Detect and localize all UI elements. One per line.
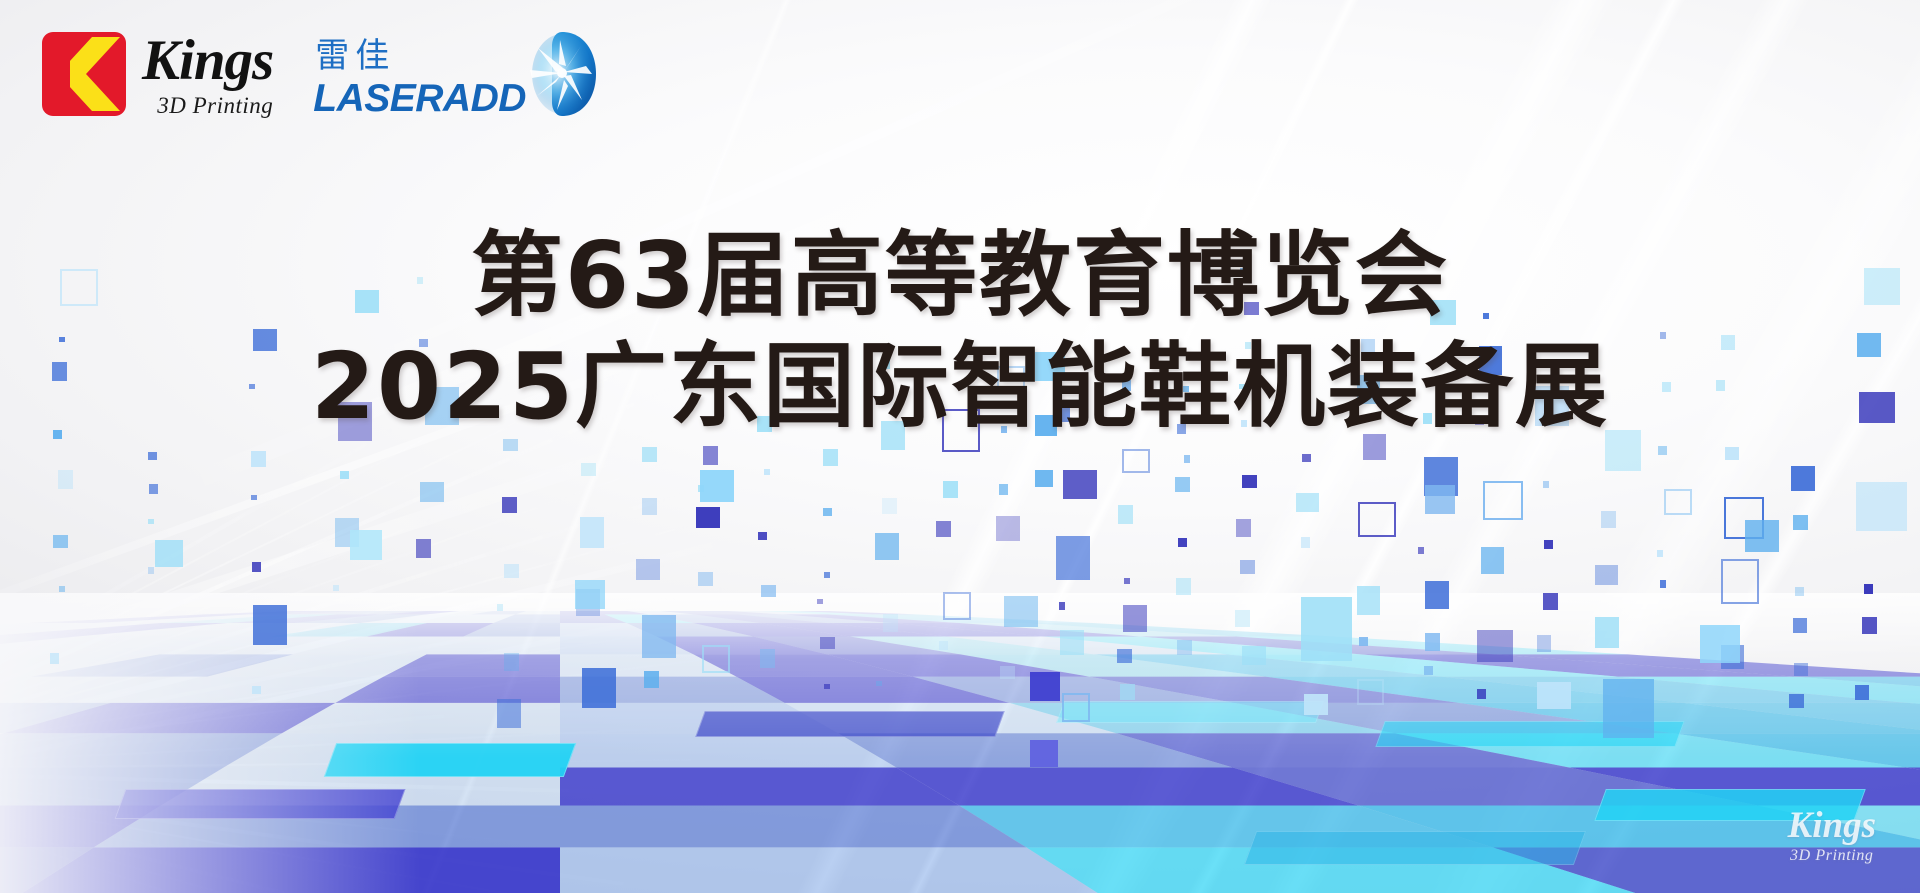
- floating-square: [420, 482, 444, 502]
- floating-square: [148, 452, 157, 460]
- floor-highlight-slab: [1244, 831, 1586, 865]
- floor-highlight-slab: [1056, 701, 1324, 723]
- floating-square: [1296, 493, 1319, 512]
- floating-square: [1301, 537, 1310, 548]
- title-block: 第63届高等教育博览会 2025广东国际智能鞋机装备展: [0, 226, 1920, 437]
- title-line-2: 2025广东国际智能鞋机装备展: [0, 337, 1920, 436]
- floating-square: [1302, 454, 1311, 462]
- floating-square: [504, 564, 519, 578]
- floor-highlight-slab: [1594, 789, 1866, 821]
- floating-square: [503, 439, 518, 451]
- perspective-tile-floor: [0, 593, 1920, 893]
- floating-square-accent: [1745, 520, 1779, 552]
- kings-k-chevron-icon: [42, 32, 126, 116]
- floating-square: [999, 484, 1008, 495]
- laseradd-chinese-name: 雷佳: [315, 39, 395, 73]
- floating-square: [698, 572, 713, 586]
- floating-square: [340, 471, 349, 479]
- floor-highlight-slab: [1375, 721, 1684, 747]
- logo-bar: Kings 3D Printing 雷佳 LASERADD: [42, 30, 598, 118]
- floating-square: [1793, 515, 1808, 530]
- laseradd-starburst-icon: [526, 30, 598, 116]
- floating-square: [148, 519, 154, 524]
- floor-highlight-slab: [695, 711, 1004, 737]
- floating-square: [1418, 547, 1424, 554]
- floating-square: [823, 449, 838, 466]
- floating-square: [1184, 455, 1190, 463]
- floating-square: [1483, 481, 1523, 520]
- kings-wordmark-block: Kings 3D Printing: [142, 32, 273, 117]
- floating-square: [824, 572, 830, 578]
- floor-highlight-slab: [115, 789, 406, 819]
- floating-square: [1543, 481, 1549, 488]
- floating-square: [1657, 550, 1663, 557]
- floating-square: [1175, 477, 1190, 492]
- laseradd-text-block: 雷佳 LASERADD: [313, 39, 526, 118]
- floating-square: [251, 495, 257, 500]
- floating-square: [696, 507, 720, 528]
- floating-square: [53, 535, 68, 548]
- floating-square: [416, 539, 431, 558]
- floating-square-accent: [1425, 485, 1455, 514]
- floating-square: [1056, 536, 1090, 580]
- floating-square: [1791, 466, 1815, 491]
- floating-square-accent: [350, 530, 382, 560]
- floating-square: [758, 532, 767, 540]
- floating-square: [823, 508, 832, 516]
- floating-square: [149, 484, 158, 494]
- floating-square: [1178, 538, 1187, 547]
- floating-square: [1595, 565, 1618, 585]
- floating-square: [642, 498, 657, 515]
- floating-square: [252, 562, 261, 572]
- floating-square: [636, 559, 660, 580]
- kings-logo[interactable]: Kings 3D Printing: [42, 32, 273, 117]
- floating-square: [1664, 489, 1692, 515]
- floating-square: [1725, 447, 1739, 460]
- floating-square: [642, 447, 657, 462]
- floating-square: [936, 521, 951, 537]
- floating-square: [581, 463, 596, 476]
- floating-square: [698, 485, 704, 492]
- floating-square: [335, 518, 359, 547]
- laseradd-wordmark: LASERADD: [313, 79, 526, 118]
- floating-square: [333, 585, 339, 591]
- floating-square: [1481, 547, 1504, 574]
- floating-square: [882, 498, 897, 514]
- floating-square: [703, 446, 718, 465]
- floating-square: [1658, 446, 1667, 455]
- floating-square: [943, 481, 958, 498]
- floating-square: [1063, 470, 1097, 499]
- floating-square: [59, 586, 65, 592]
- kings-wordmark: Kings: [142, 29, 273, 92]
- floating-square: [502, 497, 517, 513]
- title-line-1: 第63届高等教育博览会: [0, 226, 1920, 325]
- floating-square: [251, 451, 266, 467]
- floating-square: [1124, 578, 1130, 584]
- floating-square: [1544, 540, 1553, 549]
- laseradd-logo[interactable]: 雷佳 LASERADD: [313, 30, 598, 118]
- floating-square: [1660, 580, 1666, 588]
- floating-square: [1856, 482, 1907, 531]
- floating-square: [875, 533, 899, 560]
- floating-square: [1358, 502, 1396, 537]
- floating-square: [58, 470, 73, 489]
- floating-square-accent: [155, 540, 183, 567]
- floating-square: [996, 516, 1020, 541]
- floor-highlight-slab: [324, 743, 576, 777]
- floating-square: [1242, 475, 1257, 488]
- floating-square: [1236, 519, 1251, 537]
- floating-square-accent: [1035, 470, 1053, 487]
- floating-square: [1724, 497, 1764, 539]
- floating-square: [764, 469, 770, 475]
- floating-square: [148, 567, 154, 574]
- floating-square: [1601, 511, 1616, 528]
- floating-square: [580, 517, 604, 548]
- kings-tagline: 3D Printing: [142, 94, 273, 117]
- floating-square: [1118, 505, 1133, 524]
- floating-square-accent: [700, 470, 734, 502]
- floating-square: [1424, 457, 1458, 496]
- promo-banner: Kings 3D Printing 雷佳 LASERADD: [0, 0, 1920, 893]
- floating-square: [1240, 560, 1255, 574]
- floating-square: [1122, 449, 1150, 473]
